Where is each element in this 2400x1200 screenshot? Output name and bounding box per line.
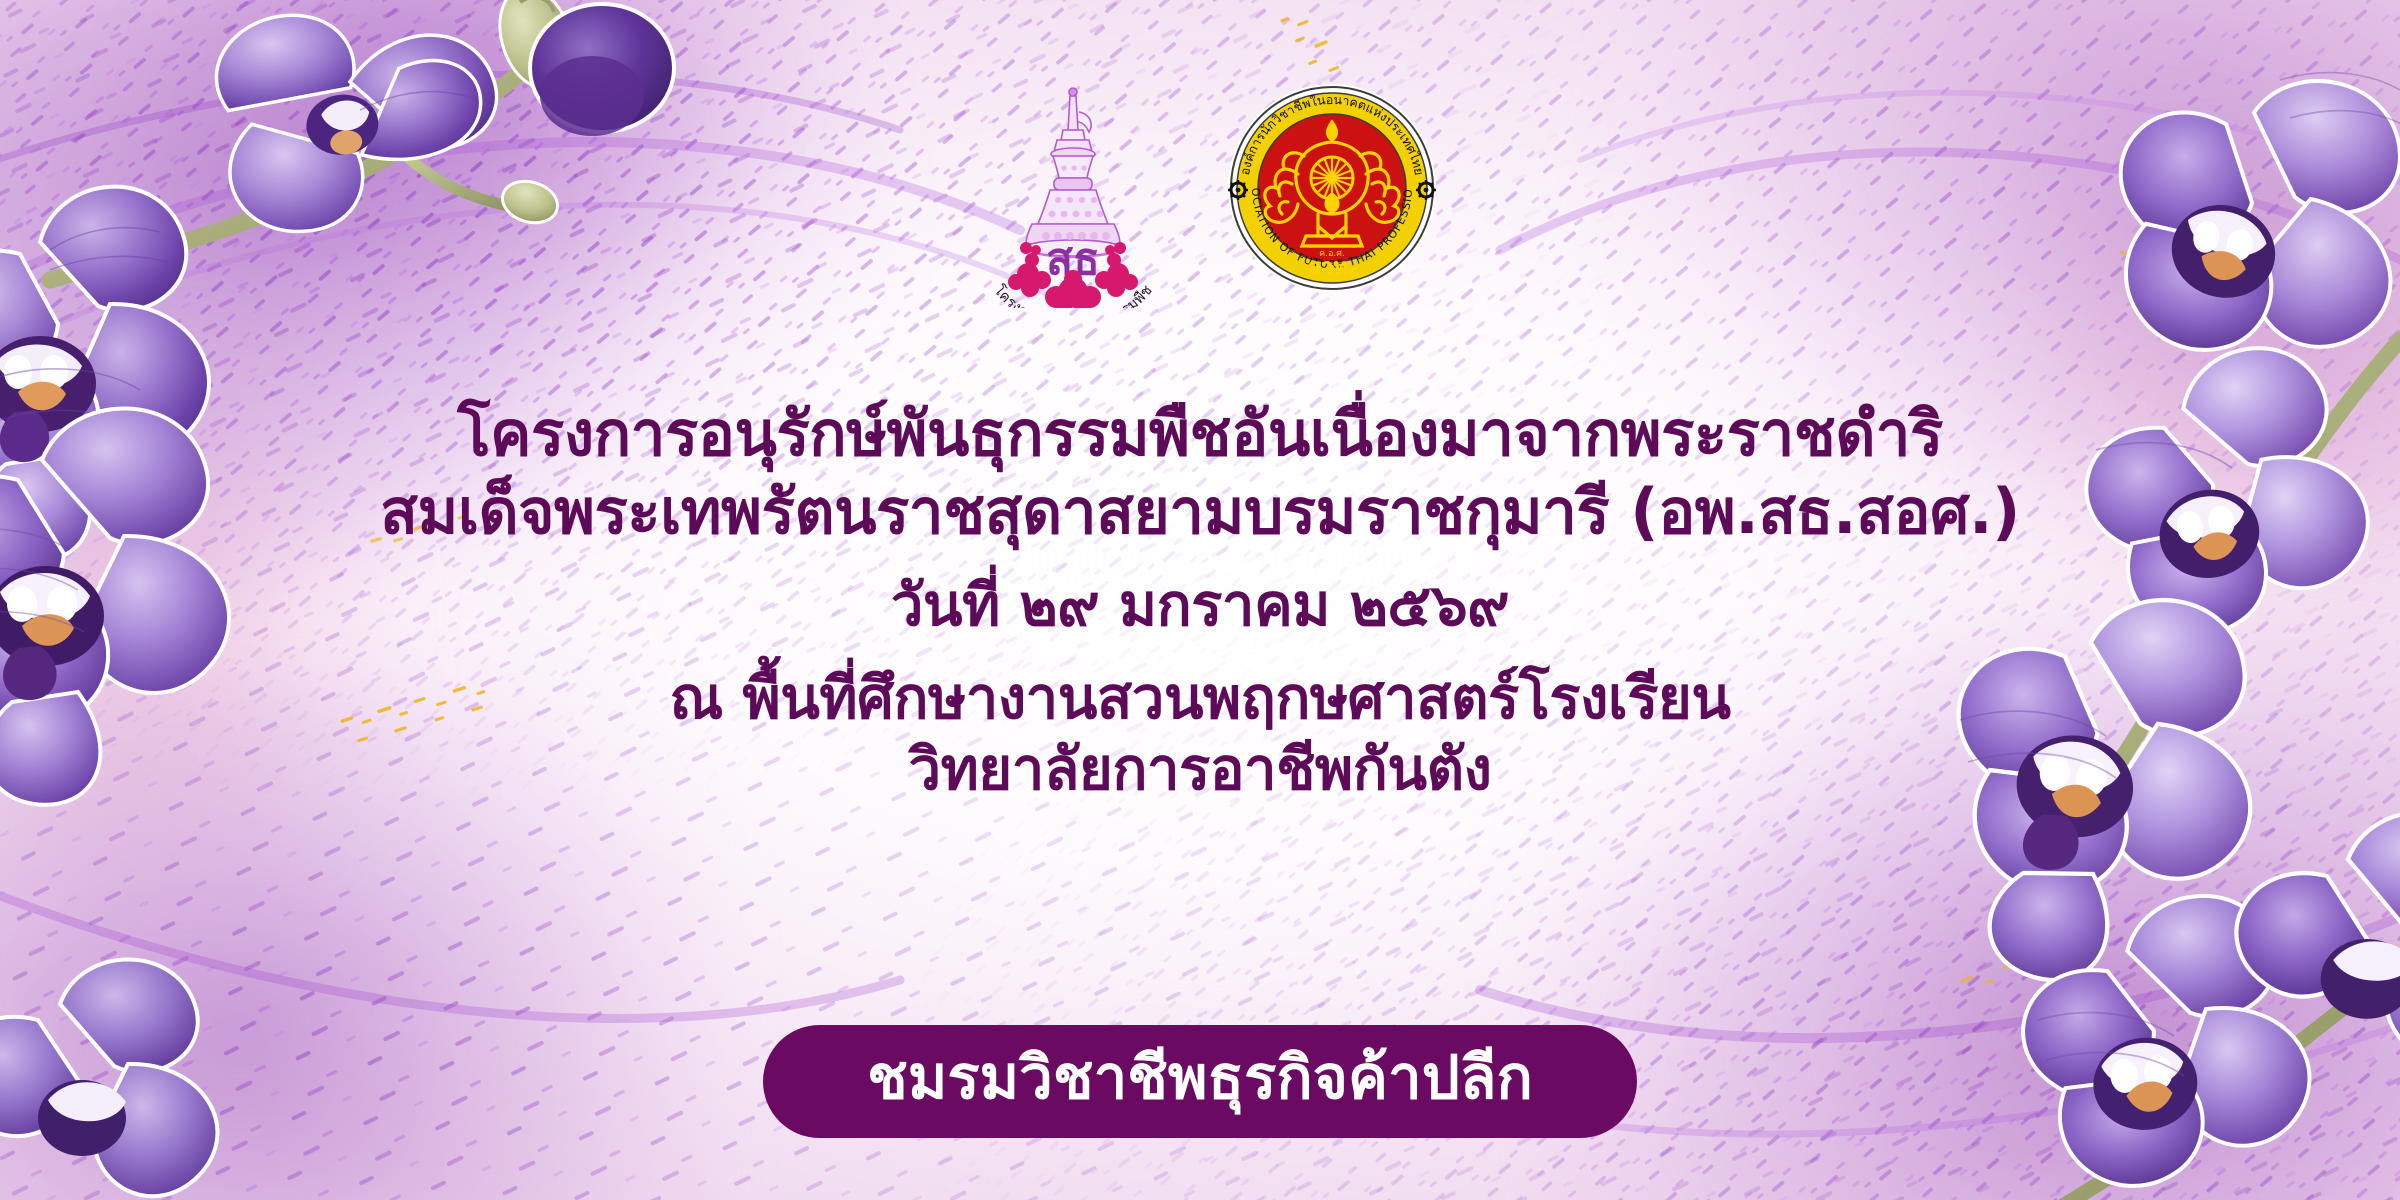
- footer-pill-wrap: ชมรมวิชาชีพธุรกิจค้าปลีก: [0, 1025, 2400, 1138]
- aftp-abbrev: อวท.: [1308, 255, 1356, 280]
- event-date-line: วันที่ ๒๙ มกราคม ๒๕๖๙: [0, 572, 2400, 639]
- event-banner: สธ: [0, 0, 2400, 1200]
- logo-row: สธ: [0, 78, 2400, 308]
- venue-line-1: ณ พื้นที่ศึกษางานสวนพฤกษศาสตร์โรงเรียน: [0, 665, 2400, 732]
- rspg-emblem-logo: สธ: [958, 78, 1188, 308]
- headline-line-2: สมเด็จพระเทพรัตนราชสุดาสยามบรมราชกุมารี …: [0, 476, 2400, 548]
- club-name-badge: ชมรมวิชาชีพธุรกิจค้าปลีก: [763, 1025, 1637, 1138]
- headline-line-1: โครงการอนุรักษ์พันธุกรรมพืชอันเนื่องมาจา…: [0, 398, 2400, 470]
- venue-line-2: วิทยาลัยการอาชีพกันตัง: [0, 736, 2400, 803]
- royal-crown-icon: [1025, 88, 1121, 258]
- aftp-emblem-logo: องค์การนักวิชาชีพในอนาคตแห่งประเทศไทย AS…: [1222, 78, 1442, 298]
- headline-block: โครงการอนุรักษ์พันธุกรรมพืชอันเนื่องมาจา…: [0, 398, 2400, 804]
